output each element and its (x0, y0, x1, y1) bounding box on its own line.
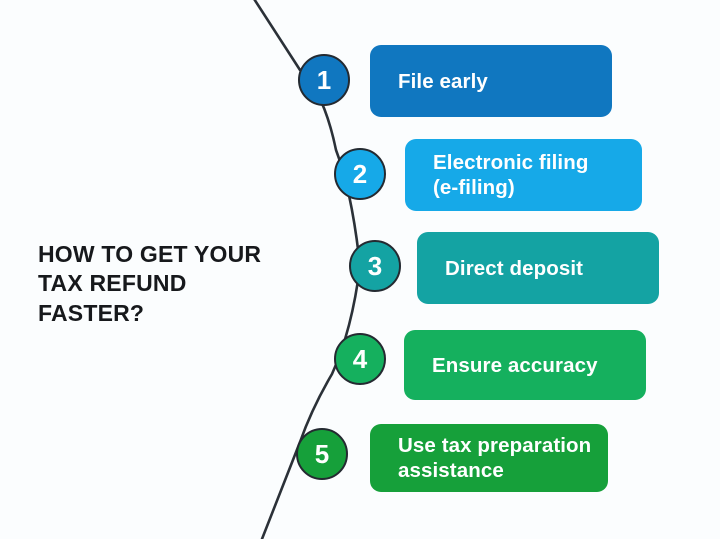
step-number-badge-3[interactable]: 3 (349, 240, 401, 292)
page-title: HOW TO GET YOUR TAX REFUND FASTER? (38, 240, 310, 328)
step-number-badge-2[interactable]: 2 (334, 148, 386, 200)
step-card-5[interactable]: Use tax preparation assistance (370, 424, 608, 492)
infographic-canvas: HOW TO GET YOUR TAX REFUND FASTER? 1 Fil… (0, 0, 720, 539)
step-card-4[interactable]: Ensure accuracy (404, 330, 646, 400)
step-number-badge-5[interactable]: 5 (296, 428, 348, 480)
step-card-1[interactable]: File early (370, 45, 612, 117)
step-card-3[interactable]: Direct deposit (417, 232, 659, 304)
step-number-badge-1[interactable]: 1 (298, 54, 350, 106)
step-card-2[interactable]: Electronic filing (e-filing) (405, 139, 642, 211)
step-number-badge-4[interactable]: 4 (334, 333, 386, 385)
